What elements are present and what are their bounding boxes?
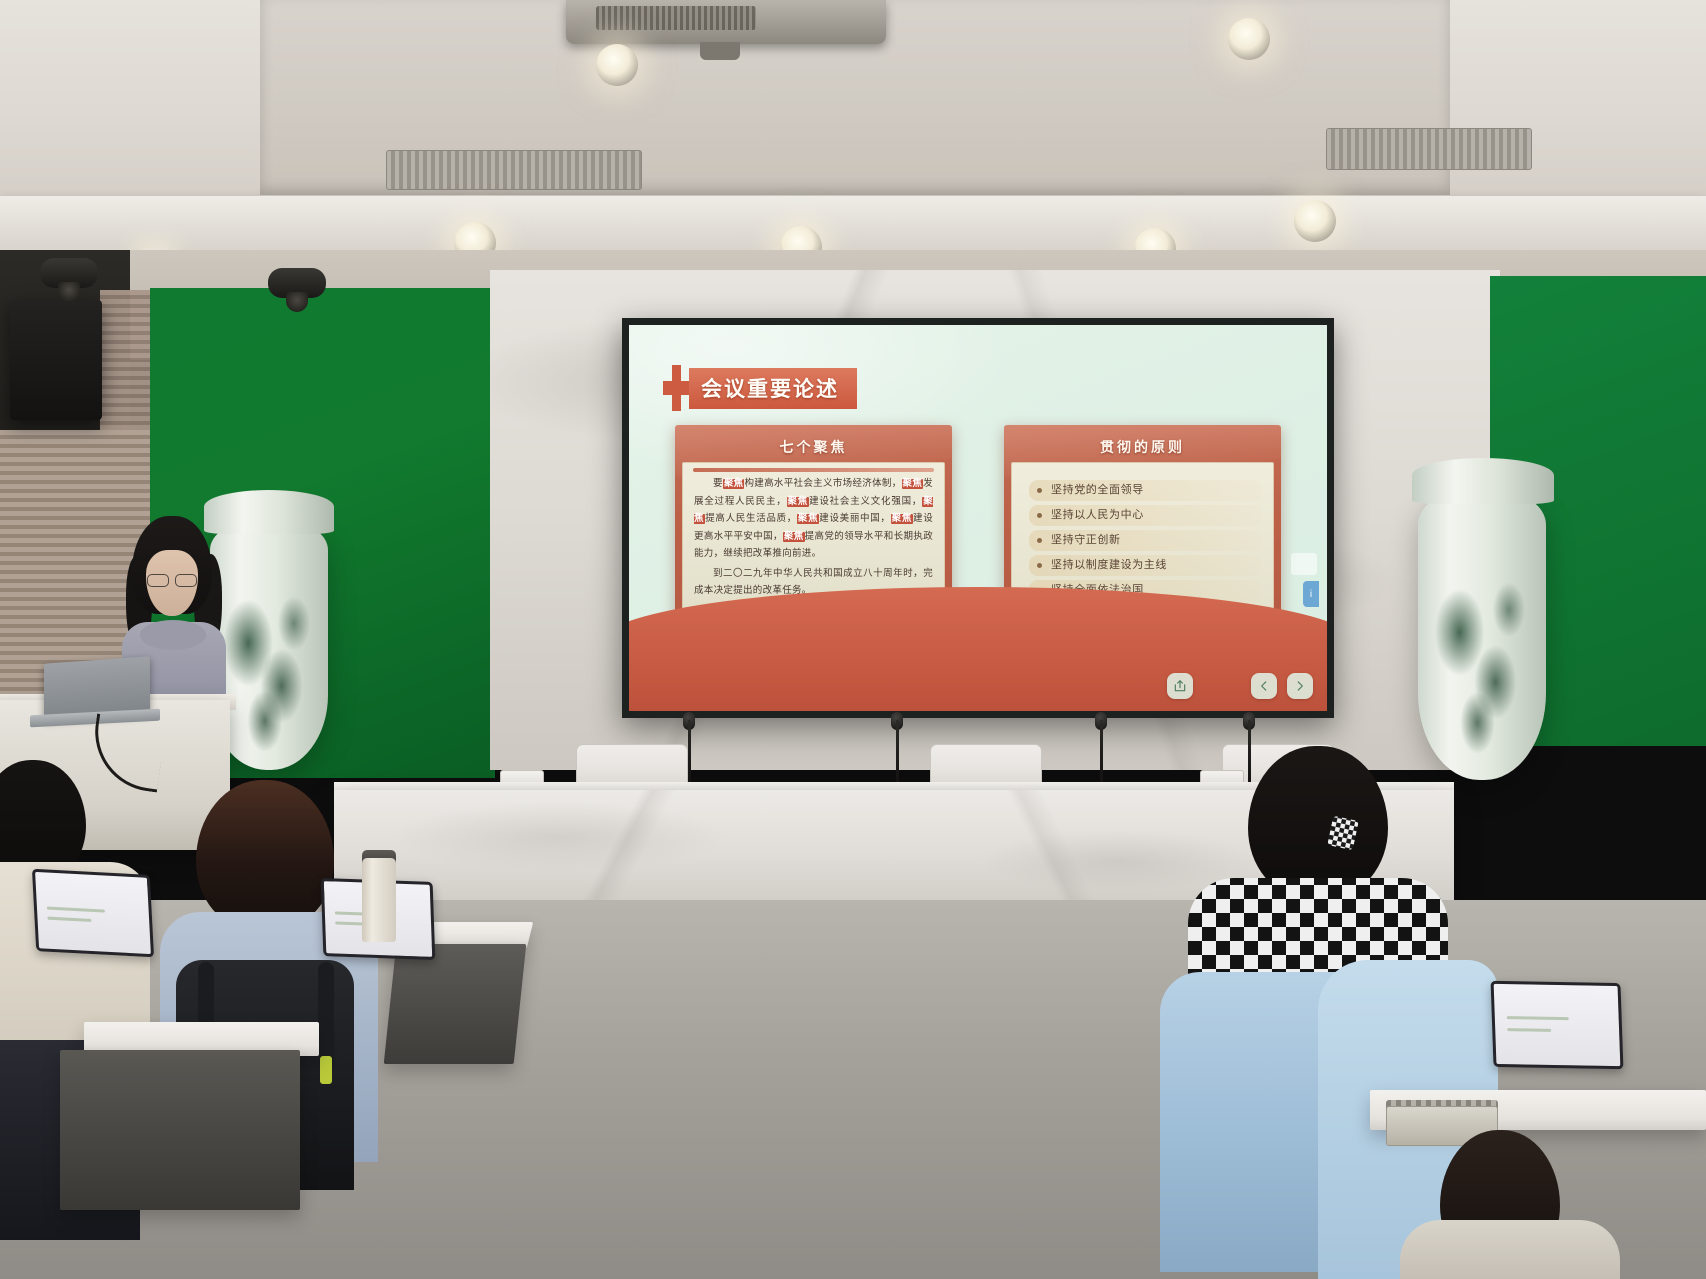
thermos-bottle bbox=[362, 858, 396, 942]
screen-text-line bbox=[1507, 1028, 1551, 1032]
previous-slide-button[interactable] bbox=[1251, 673, 1277, 699]
microphone-stem bbox=[1248, 720, 1251, 786]
wall-speaker bbox=[10, 300, 102, 420]
highlighted-keyword: 聚焦 bbox=[783, 532, 805, 542]
audience-laptop[interactable] bbox=[1491, 981, 1624, 1069]
bullet-dot-icon bbox=[1037, 488, 1042, 493]
principle-item: 坚持守正创新 bbox=[1029, 530, 1262, 551]
ceiling-spotlight bbox=[596, 44, 638, 86]
ceiling-spotlight bbox=[1294, 200, 1336, 242]
ceiling-camera bbox=[268, 268, 326, 298]
microphone-stem bbox=[1100, 720, 1103, 786]
audience-member-head bbox=[1248, 746, 1388, 898]
panel-accent-bar bbox=[693, 468, 934, 472]
presenter-hood bbox=[140, 620, 206, 650]
audience-desk-panel bbox=[60, 1050, 300, 1210]
bullet-dot-icon bbox=[1037, 563, 1042, 568]
ceiling-soffit bbox=[0, 196, 1706, 254]
projector-vent bbox=[596, 6, 756, 30]
ceiling-camera bbox=[40, 258, 98, 288]
bullet-dot-icon bbox=[1037, 513, 1042, 518]
share-button[interactable] bbox=[1167, 673, 1193, 699]
lecture-hall-photo: 会议重要论述 七个聚焦 要聚焦构建高水平社会主义市场经济体制，聚焦发展全过程人民… bbox=[0, 0, 1706, 1279]
panel-paragraphs: 要聚焦构建高水平社会主义市场经济体制，聚焦发展全过程人民民主，聚焦建设社会主义文… bbox=[694, 476, 933, 601]
slide-title-group: 会议重要论述 bbox=[663, 365, 857, 411]
principle-item-label: 坚持党的全面领导 bbox=[1051, 485, 1144, 496]
audience-member-head bbox=[196, 780, 334, 930]
principle-item-label: 坚持以人民为中心 bbox=[1051, 510, 1144, 521]
chevron-left-icon bbox=[1257, 679, 1271, 693]
slide-title: 会议重要论述 bbox=[689, 368, 857, 409]
info-badge-icon[interactable]: i bbox=[1303, 581, 1319, 607]
paragraph-text: 构建高水平社会主义市场经济体制， bbox=[744, 479, 901, 489]
projector-mount bbox=[700, 42, 740, 60]
screen-text-line bbox=[1507, 1016, 1569, 1020]
plus-mark-icon bbox=[663, 365, 689, 411]
paragraph-text: 建设社会主义文化强国， bbox=[809, 497, 922, 507]
audience-desk-panel bbox=[384, 944, 527, 1064]
paragraph-text: 提高人民生活品质， bbox=[705, 514, 797, 524]
microphone-stem bbox=[688, 720, 691, 786]
panel-header-left: 七个聚焦 bbox=[682, 432, 945, 462]
microphone-stem bbox=[896, 720, 899, 786]
share-icon bbox=[1173, 679, 1187, 693]
tablet-text-line bbox=[47, 907, 105, 913]
highlighted-keyword: 聚焦 bbox=[797, 514, 819, 524]
backpack-clip bbox=[320, 1056, 332, 1084]
audience-member-torso bbox=[1400, 1220, 1620, 1279]
paragraph-text: 要 bbox=[713, 479, 723, 489]
highlighted-keyword: 聚焦 bbox=[787, 497, 810, 507]
next-slide-button[interactable] bbox=[1287, 673, 1313, 699]
principle-item: 坚持以制度建设为主线 bbox=[1029, 555, 1262, 576]
decorative-porcelain-vase bbox=[1418, 490, 1546, 780]
ceiling-spotlight bbox=[1228, 18, 1270, 60]
principle-item: 坚持党的全面领导 bbox=[1029, 480, 1262, 501]
screen-surface: 会议重要论述 七个聚焦 要聚焦构建高水平社会主义市场经济体制，聚焦发展全过程人民… bbox=[629, 325, 1327, 711]
principle-item: 坚持以人民为中心 bbox=[1029, 505, 1262, 526]
presentation-slide: 会议重要论述 七个聚焦 要聚焦构建高水平社会主义市场经济体制，聚焦发展全过程人民… bbox=[629, 325, 1327, 711]
highlighted-keyword: 聚焦 bbox=[723, 479, 745, 489]
highlighted-keyword: 聚焦 bbox=[891, 514, 913, 524]
principle-item-label: 坚持守正创新 bbox=[1051, 535, 1121, 546]
panel-header-right: 贯彻的原则 bbox=[1011, 432, 1274, 462]
projection-screen: 会议重要论述 七个聚焦 要聚焦构建高水平社会主义市场经济体制，聚焦发展全过程人民… bbox=[622, 318, 1334, 718]
principle-item-label: 坚持以制度建设为主线 bbox=[1051, 560, 1167, 571]
panel-paragraph: 要聚焦构建高水平社会主义市场经济体制，聚焦发展全过程人民民主，聚焦建设社会主义文… bbox=[694, 476, 933, 564]
screen-side-tab[interactable] bbox=[1291, 553, 1317, 575]
slide-navigation-controls bbox=[1167, 673, 1313, 699]
tablet-text-line bbox=[47, 917, 91, 922]
ceiling-air-duct bbox=[1326, 128, 1532, 170]
paragraph-text: 建设美丽中国， bbox=[819, 514, 890, 524]
chevron-right-icon bbox=[1293, 679, 1307, 693]
highlighted-keyword: 聚焦 bbox=[902, 479, 924, 489]
bullet-dot-icon bbox=[1037, 538, 1042, 543]
audience-tablet[interactable] bbox=[32, 869, 154, 958]
ceiling-air-duct bbox=[386, 150, 642, 190]
vase-neck bbox=[1412, 458, 1554, 504]
glasses-icon bbox=[146, 574, 198, 586]
